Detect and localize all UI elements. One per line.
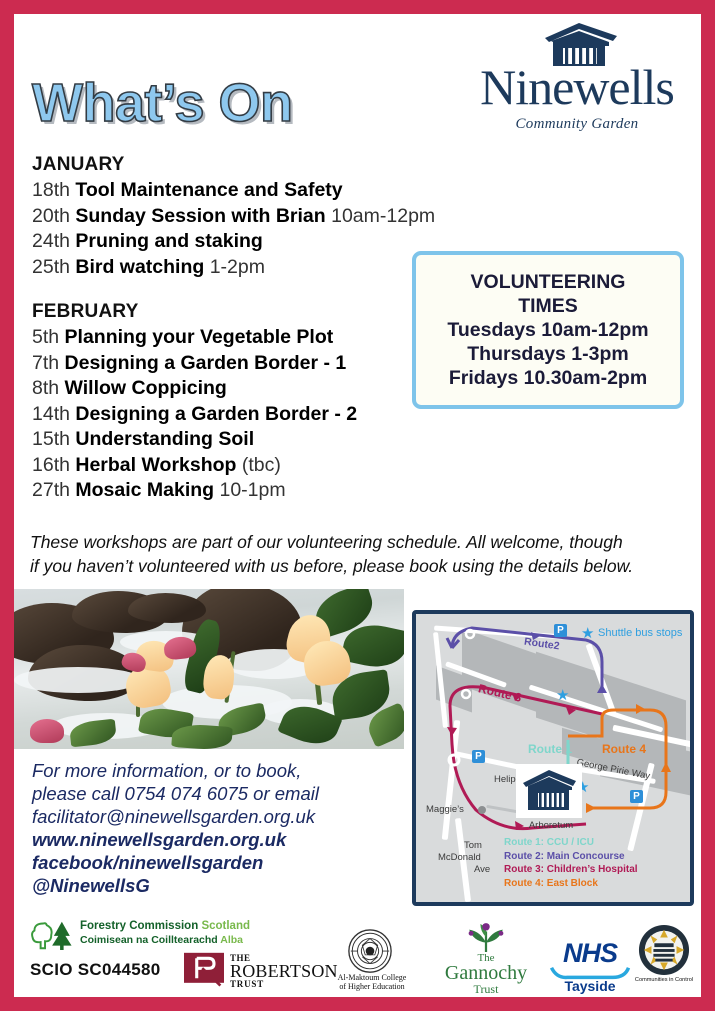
event-title: Tool Maintenance and Safety: [75, 179, 342, 201]
fcs-line1-bold: Forestry Commission: [80, 920, 198, 932]
contact-facebook[interactable]: facebook/ninewellsgarden: [32, 851, 402, 874]
contact-email[interactable]: facilitator@ninewellsgarden.org.uk: [32, 805, 402, 828]
event-row: 18th Tool Maintenance and Safety: [32, 178, 432, 204]
robertson-trust: TRUST: [230, 979, 264, 989]
communities-in-control-logo: Communities in Control: [634, 924, 694, 990]
parking-icon: P: [554, 624, 567, 637]
volunteering-heading-1: VOLUNTEERING: [471, 270, 626, 294]
map-place-tom: Tom: [464, 840, 482, 851]
event-title: Willow Coppicing: [65, 377, 227, 399]
gannochy-trust: Trust: [432, 982, 540, 997]
footer-logos: SCIO SC044580 Forestry Commission Scotla…: [14, 910, 701, 997]
event-day: 5th: [32, 326, 65, 348]
workshops-note-line-2: if you haven’t volunteered with us befor…: [30, 554, 690, 578]
map-place-ave: Ave: [474, 864, 490, 875]
month-heading: FEBRUARY: [32, 301, 432, 323]
scio-number: SCIO SC044580: [30, 960, 161, 980]
map-route-label-1: Route 1: [528, 742, 572, 756]
volunteering-line-tuesdays: Tuesdays 10am-12pm: [447, 318, 648, 342]
event-row: 25th Bird watching 1-2pm: [32, 255, 432, 281]
events-listing: JANUARY18th Tool Maintenance and Safety2…: [32, 154, 432, 504]
event-title: Designing a Garden Border - 1: [65, 352, 347, 374]
robertson-r-icon: [184, 952, 224, 990]
contact-line-1: For more information, or to book,: [32, 759, 402, 782]
robertson-trust-logo: THE ROBERTSON TRUST: [184, 952, 324, 992]
volunteering-line-thursdays: Thursdays 1-3pm: [467, 342, 628, 366]
contact-line-2: please call 0754 074 6075 or email: [32, 782, 402, 805]
logo-tagline: Community Garden: [461, 116, 693, 133]
volunteering-line-fridays: Fridays 10.30am-2pm: [449, 366, 647, 390]
page-title: What’s On: [32, 72, 293, 134]
college-seal-icon: [338, 928, 402, 976]
event-day: 8th: [32, 377, 65, 399]
month-heading: JANUARY: [32, 154, 432, 176]
workshops-note-line-1: These workshops are part of our voluntee…: [30, 530, 690, 554]
communities-seal-icon: [638, 924, 690, 976]
event-day: 18th: [32, 179, 75, 201]
shuttle-stop-icon: ★: [556, 688, 569, 703]
fcs-line2-light: Alba: [220, 934, 243, 946]
fcs-line2-bold: Coimisean na Coilltearachd: [80, 934, 218, 946]
event-day: 20th: [32, 205, 75, 227]
volunteering-heading-2: TIMES: [518, 294, 578, 318]
event-title: Understanding Soil: [75, 428, 254, 450]
event-title: Mosaic Making: [75, 479, 214, 501]
event-row: 27th Mosaic Making 10-1pm: [32, 478, 432, 504]
forestry-commission-scotland-logo: Forestry Commission Scotland Coimisean n…: [30, 918, 242, 952]
ninewells-logo: Ninewells Community Garden: [461, 20, 693, 142]
map-legend-item: Route 4: East Block: [504, 877, 638, 891]
nhs-tayside-logo: NHS Tayside: [542, 938, 638, 992]
event-row: 16th Herbal Workshop (tbc): [32, 453, 432, 479]
map-legend-item: Route 3: Children’s Hospital: [504, 863, 638, 877]
map-place-mcdonald: McDonald: [438, 852, 481, 863]
event-day: 16th: [32, 454, 75, 476]
tree-icon: [30, 919, 76, 951]
gannochy-trust-logo: The Gannochy Trust: [432, 922, 540, 992]
event-day: 24th: [32, 230, 75, 252]
event-time: (tbc): [236, 454, 280, 476]
ninewells-map-marker-icon: [516, 764, 582, 818]
map-place-maggies: Maggie’s: [426, 804, 464, 815]
volunteering-times-box: VOLUNTEERING TIMES Tuesdays 10am-12pm Th…: [412, 251, 684, 409]
contact-block: For more information, or to book, please…: [32, 759, 402, 897]
event-row: 15th Understanding Soil: [32, 427, 432, 453]
parking-icon: P: [472, 750, 485, 763]
map-place-arboretum: Arboretum: [508, 820, 594, 831]
poster-sheet: What’s On Ninewells Community Garden: [14, 14, 701, 997]
event-time: 10am-12pm: [326, 205, 435, 227]
event-day: 15th: [32, 428, 75, 450]
shuttle-legend-label: Shuttle bus stops: [598, 627, 682, 639]
workshops-note: These workshops are part of our voluntee…: [30, 530, 690, 578]
event-title: Planning your Vegetable Plot: [65, 326, 334, 348]
event-time: 10-1pm: [214, 479, 286, 501]
event-title: Herbal Workshop: [75, 454, 236, 476]
event-day: 14th: [32, 403, 75, 425]
event-title: Sunday Session with Brian: [75, 205, 325, 227]
nhs-wordmark: NHS: [542, 938, 638, 969]
plant-sprout-icon: [458, 922, 514, 954]
nhs-tayside-label: Tayside: [542, 978, 638, 994]
event-row: 7th Designing a Garden Border - 1: [32, 351, 432, 377]
event-title: Pruning and staking: [75, 230, 262, 252]
map-legend-item: Route 2: Main Concourse: [504, 850, 638, 864]
map-legend: Route 1: CCU / ICURoute 2: Main Concours…: [504, 836, 638, 890]
al-maktoum-line2: of Higher Education: [324, 983, 420, 992]
event-row: 24th Pruning and staking: [32, 229, 432, 255]
event-day: 7th: [32, 352, 65, 374]
contact-website[interactable]: www.ninewellsgarden.org.uk: [32, 828, 402, 851]
poster-root: What’s On Ninewells Community Garden: [0, 0, 715, 1011]
map-legend-item: Route 1: CCU / ICU: [504, 836, 638, 850]
parking-icon: P: [630, 790, 643, 803]
event-row: 5th Planning your Vegetable Plot: [32, 325, 432, 351]
hospital-route-map: Route2 Route 3 Route 1 Route 4 P P P ★ S…: [412, 610, 694, 906]
fcs-line1-light: Scotland: [201, 920, 250, 932]
communities-caption: Communities in Control: [626, 976, 701, 985]
event-title: Designing a Garden Border - 2: [75, 403, 357, 425]
event-row: 20th Sunday Session with Brian 10am-12pm: [32, 204, 432, 230]
event-row: 14th Designing a Garden Border - 2: [32, 402, 432, 428]
map-route-label-4: Route 4: [602, 742, 646, 756]
event-row: 8th Willow Coppicing: [32, 376, 432, 402]
event-time: 1-2pm: [204, 256, 265, 278]
event-title: Bird watching: [75, 256, 204, 278]
garden-photo: [14, 589, 404, 749]
contact-twitter[interactable]: @NinewellsG: [32, 874, 402, 897]
poster-header: What’s On Ninewells Community Garden: [14, 14, 701, 154]
al-maktoum-college-logo: Al-Maktoum College of Higher Education: [324, 928, 420, 992]
logo-wordmark: Ninewells: [461, 62, 693, 112]
event-day: 27th: [32, 479, 75, 501]
shuttle-stop-icon: ★: [581, 626, 594, 641]
event-day: 25th: [32, 256, 75, 278]
